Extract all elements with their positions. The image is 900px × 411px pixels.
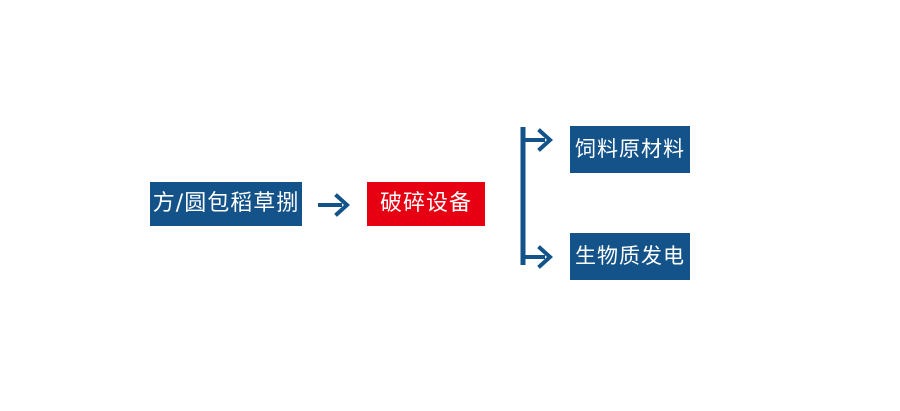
branch-split-connector (514, 120, 564, 280)
node-crusher[interactable]: 破碎设备 (367, 182, 485, 226)
node-biomass-power-label: 生物质发电 (575, 246, 685, 267)
node-straw-bale[interactable]: 方/圆包稻草捌 (150, 182, 302, 226)
node-feed-material[interactable]: 饲料原材料 (570, 126, 690, 173)
node-feed-material-label: 饲料原材料 (575, 139, 685, 160)
node-crusher-label: 破碎设备 (380, 193, 472, 215)
flowchart-canvas: 方/圆包稻草捌 破碎设备 饲料原材料 生物质发电 (0, 0, 900, 411)
node-straw-bale-label: 方/圆包稻草捌 (153, 193, 299, 215)
node-biomass-power[interactable]: 生物质发电 (570, 233, 690, 280)
arrow-right-icon-main (316, 191, 352, 219)
